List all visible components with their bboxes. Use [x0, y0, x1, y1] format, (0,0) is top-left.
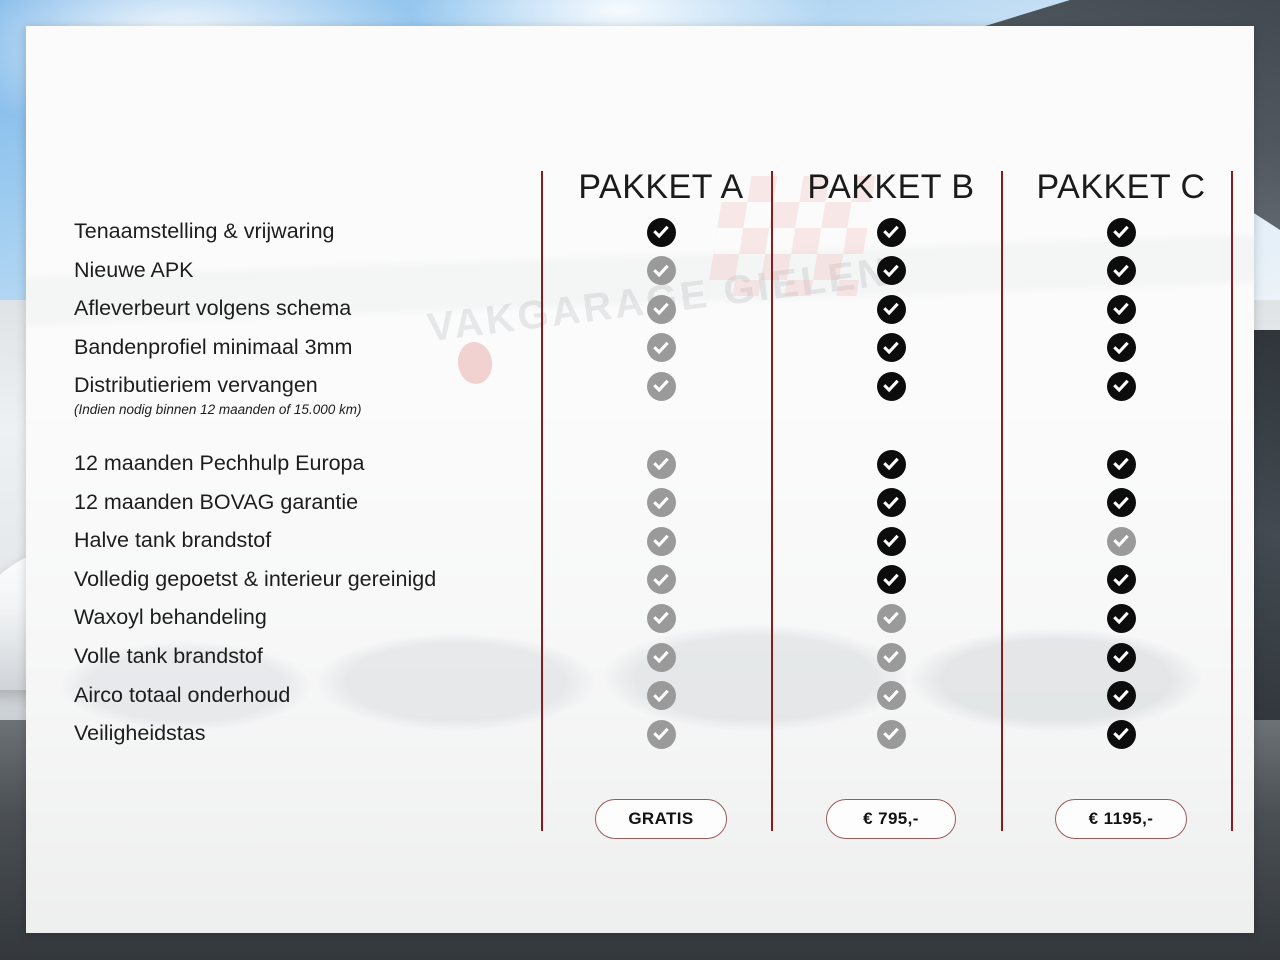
check-excluded-icon: [647, 565, 676, 594]
check-included-icon: [877, 256, 906, 285]
check-included-icon: [877, 565, 906, 594]
column-divider-2: [771, 171, 773, 831]
check-excluded-icon: [647, 333, 676, 362]
page-root: VAKGARAGE GIELEN PAKKET APAKKET BPAKKET …: [0, 0, 1280, 960]
feature-label: Veiligheidstas: [74, 723, 205, 745]
column-header-b: PAKKET B: [761, 168, 1021, 207]
check-excluded-icon: [647, 295, 676, 324]
check-included-icon: [877, 450, 906, 479]
check-excluded-icon: [647, 604, 676, 633]
package-comparison-table: PAKKET APAKKET BPAKKET CTenaamstelling &…: [26, 26, 1254, 933]
column-divider-1: [541, 171, 543, 831]
check-excluded-icon: [877, 681, 906, 710]
check-included-icon: [877, 488, 906, 517]
feature-label: Volle tank brandstof: [74, 646, 263, 668]
check-excluded-icon: [877, 604, 906, 633]
feature-label: Halve tank brandstof: [74, 530, 271, 552]
feature-label: Waxoyl behandeling: [74, 607, 267, 629]
check-included-icon: [1107, 295, 1136, 324]
feature-label: Nieuwe APK: [74, 260, 194, 282]
check-included-icon: [877, 295, 906, 324]
price-button-a[interactable]: GRATIS: [595, 799, 727, 839]
check-excluded-icon: [647, 527, 676, 556]
check-excluded-icon: [647, 256, 676, 285]
check-excluded-icon: [1107, 527, 1136, 556]
check-included-icon: [1107, 450, 1136, 479]
check-included-icon: [877, 372, 906, 401]
feature-label: Bandenprofiel minimaal 3mm: [74, 337, 352, 359]
feature-label: 12 maanden Pechhulp Europa: [74, 453, 364, 475]
check-included-icon: [1107, 372, 1136, 401]
check-included-icon: [647, 218, 676, 247]
check-included-icon: [1107, 681, 1136, 710]
check-excluded-icon: [647, 643, 676, 672]
check-included-icon: [1107, 604, 1136, 633]
check-included-icon: [1107, 643, 1136, 672]
column-divider-4: [1231, 171, 1233, 831]
check-included-icon: [1107, 333, 1136, 362]
check-included-icon: [877, 218, 906, 247]
price-button-b[interactable]: € 795,-: [826, 799, 956, 839]
check-included-icon: [1107, 218, 1136, 247]
column-header-c: PAKKET C: [991, 168, 1251, 207]
column-header-a: PAKKET A: [531, 168, 791, 207]
check-included-icon: [1107, 565, 1136, 594]
feature-label: 12 maanden BOVAG garantie: [74, 492, 358, 514]
feature-label: Tenaamstelling & vrijwaring: [74, 221, 335, 243]
feature-label: Afleverbeurt volgens schema: [74, 298, 351, 320]
check-excluded-icon: [647, 488, 676, 517]
check-excluded-icon: [647, 681, 676, 710]
check-excluded-icon: [877, 643, 906, 672]
check-excluded-icon: [647, 372, 676, 401]
check-excluded-icon: [877, 720, 906, 749]
feature-label: Distributieriem vervangen: [74, 375, 318, 397]
price-button-c[interactable]: € 1195,-: [1055, 799, 1187, 839]
check-excluded-icon: [647, 720, 676, 749]
check-included-icon: [877, 527, 906, 556]
check-included-icon: [1107, 256, 1136, 285]
feature-label: Volledig gepoetst & interieur gereinigd: [74, 569, 436, 591]
check-included-icon: [1107, 488, 1136, 517]
column-divider-3: [1001, 171, 1003, 831]
feature-label: Airco totaal onderhoud: [74, 685, 290, 707]
comparison-card: VAKGARAGE GIELEN PAKKET APAKKET BPAKKET …: [26, 26, 1254, 933]
check-included-icon: [1107, 720, 1136, 749]
check-included-icon: [877, 333, 906, 362]
feature-note: (Indien nodig binnen 12 maanden of 15.00…: [74, 403, 361, 417]
check-excluded-icon: [647, 450, 676, 479]
